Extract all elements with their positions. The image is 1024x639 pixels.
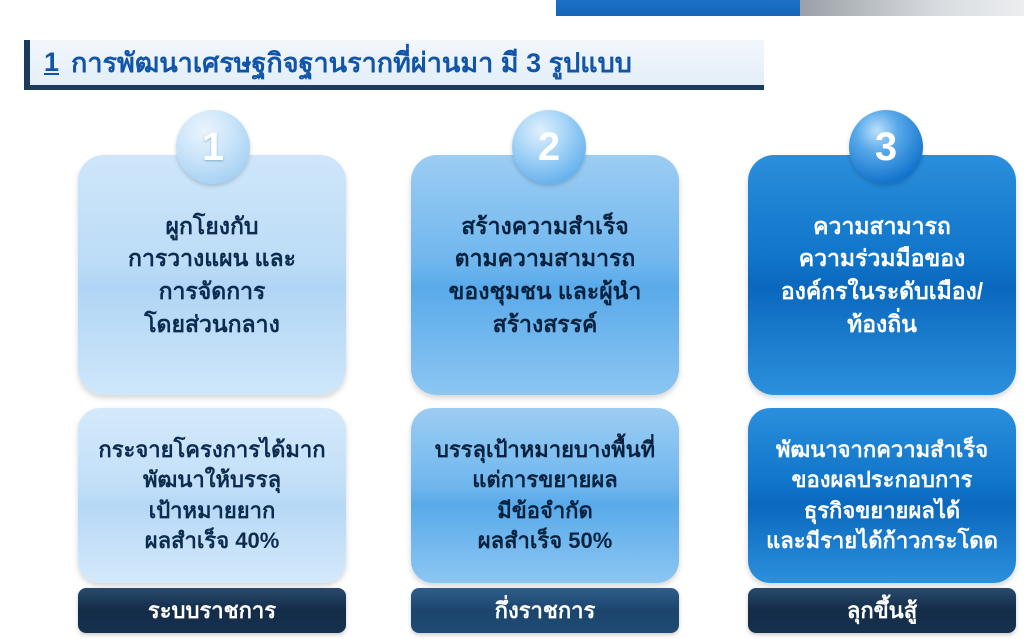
column-3-top-line-1: ความสามารถ [813,210,951,243]
column-3-bottom-line-3: ธุรกิจขยายผลได้ [804,496,960,526]
column-3-footer-label: ลุกขึ้นสู้ [748,588,1016,633]
slide-title-band: 1 การพัฒนาเศรษฐกิจฐานรากที่ผ่านมา มี 3 ร… [24,40,764,90]
column-3-bottom-line-2: ของผลประกอบการ [792,465,973,495]
column-1-top-box: ผูกโยงกับ การวางแผน และ การจัดการ โดยส่ว… [78,155,346,395]
column-2-footer-label: กึ่งราชการ [411,588,679,633]
column-2-bottom-line-3: มีข้อจำกัด [497,496,593,526]
column-1-bottom-box: กระจายโครงการได้มาก พัฒนาให้บรรลุ เป้าหม… [78,408,346,583]
column-1-bottom-line-2: พัฒนาให้บรรลุ [143,465,281,495]
top-accent-bar-blue [556,0,800,16]
column-2-top-line-2: ตามความสามารถ [455,242,636,275]
top-accent-bar-grey [800,0,1024,16]
badge-3: 3 [849,110,923,184]
column-2-bottom-line-4: ผลสำเร็จ 50% [478,526,613,556]
column-3-top-line-3: องค์กรในระดับเมือง/ [781,275,983,308]
column-2-top-line-1: สร้างความสำเร็จ [461,210,629,243]
column-2-bottom-line-1: บรรลุเป้าหมายบางพื้นที่ [435,435,655,465]
column-3-bottom-line-1: พัฒนาจากความสำเร็จ [776,435,988,465]
column-3-bottom-box: พัฒนาจากความสำเร็จ ของผลประกอบการ ธุรกิจ… [748,408,1016,583]
column-1-top-line-4: โดยส่วนกลาง [144,308,280,341]
slide-number: 1 [44,47,59,78]
column-2-bottom-box: บรรลุเป้าหมายบางพื้นที่ แต่การขยายผล มีข… [411,408,679,583]
column-3-top-box: ความสามารถ ความร่วมมือของ องค์กรในระดับเ… [748,155,1016,395]
column-2-bottom-line-2: แต่การขยายผล [472,465,618,495]
column-3-top-line-4: ท้องถิ่น [847,308,917,341]
column-1-bottom-line-3: เป้าหมายยาก [149,496,276,526]
column-1-bottom-line-1: กระจายโครงการได้มาก [98,435,325,465]
column-1-top-line-2: การวางแผน และ [128,242,296,275]
column-2-top-line-3: ของชุมชน และผู้นำ [449,275,642,308]
badge-1: 1 [176,110,250,184]
column-3-bottom-line-4: และมีรายได้ก้าวกระโดด [766,526,998,556]
column-2-top-line-4: สร้างสรรค์ [493,308,598,341]
column-1-footer-label: ระบบราชการ [78,588,346,633]
page-title: การพัฒนาเศรษฐกิจฐานรากที่ผ่านมา มี 3 รูป… [71,41,632,84]
badge-2: 2 [512,110,586,184]
column-1-bottom-line-4: ผลสำเร็จ 40% [145,526,280,556]
column-1-top-line-1: ผูกโยงกับ [166,210,259,243]
column-1-top-line-3: การจัดการ [159,275,266,308]
column-3-top-line-2: ความร่วมมือของ [799,242,966,275]
column-2-top-box: สร้างความสำเร็จ ตามความสามารถ ของชุมชน แ… [411,155,679,395]
